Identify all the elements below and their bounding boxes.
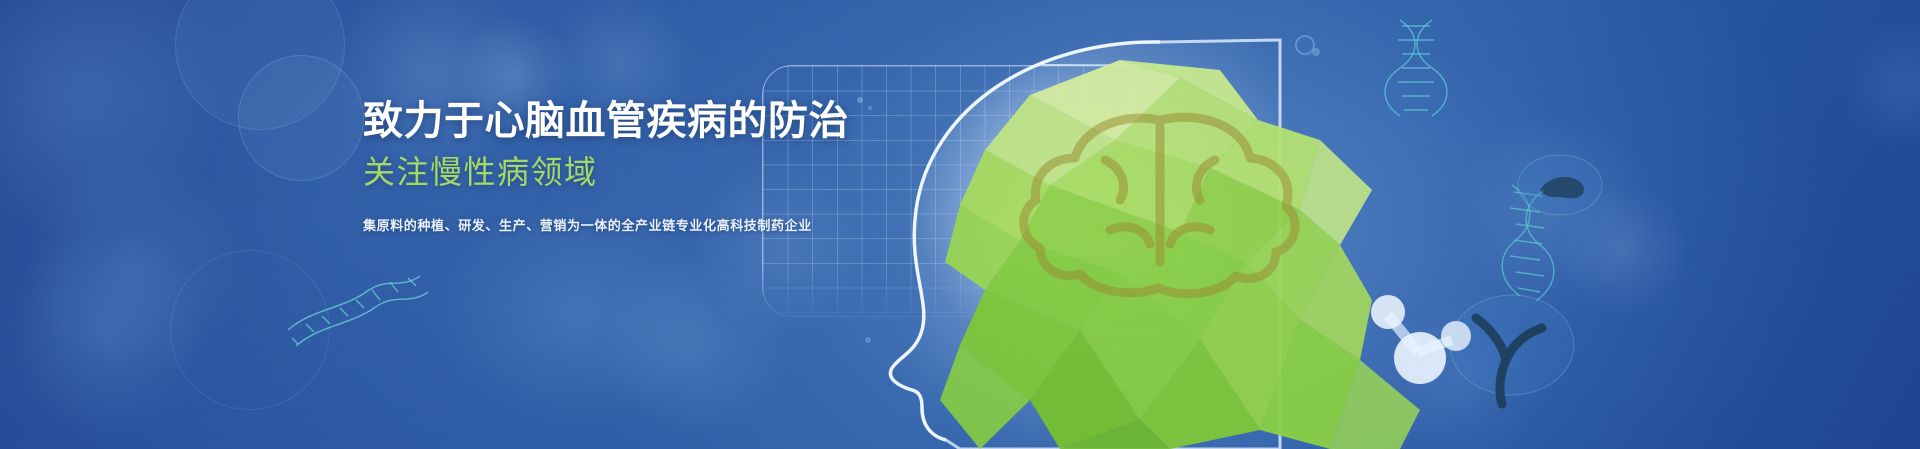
banner-copy: 致力于心脑血管疾病的防治 关注慢性病领域 集原料的种植、研发、生产、营销为一体的…: [363, 96, 833, 236]
banner-headline: 致力于心脑血管疾病的防治: [363, 96, 833, 146]
cell-bottom-right-icon: [1450, 295, 1574, 404]
micro-dot-icon: [1312, 48, 1320, 56]
banner-tagline: 集原料的种植、研发、生产、营销为一体的全产业链专业化高科技制药企业: [363, 216, 833, 236]
micro-dot-icon: [865, 337, 871, 343]
low-poly-head-graphic: [0, 0, 1920, 449]
cell-top-right-icon: [1518, 155, 1602, 215]
dna-helix-top-right-icon: [1385, 20, 1447, 116]
micro-dot-icon: [857, 97, 863, 103]
molecule-cluster-center-icon: [1371, 295, 1471, 384]
banner-subline: 关注慢性病领域: [363, 150, 833, 194]
micro-dot-icon: [868, 106, 872, 110]
micro-dot-icon: [1296, 36, 1314, 54]
dna-helix-bottom-left-icon: [288, 276, 428, 346]
hero-banner: 致力于心脑血管疾病的防治 关注慢性病领域 集原料的种植、研发、生产、营销为一体的…: [0, 0, 1920, 449]
